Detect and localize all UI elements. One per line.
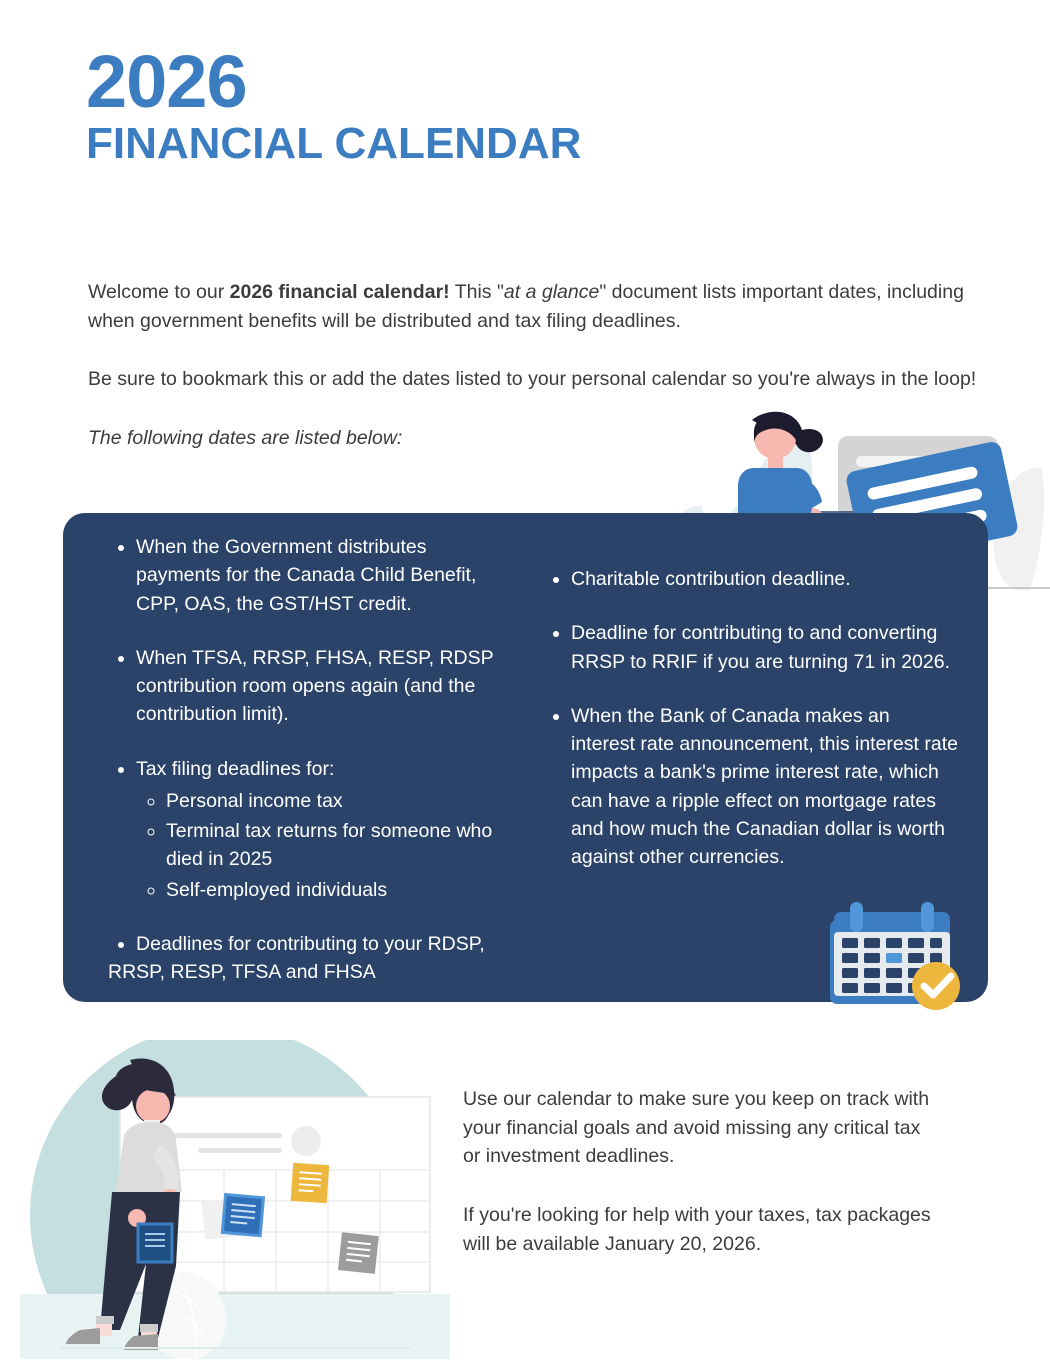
list-item: Deadline for contributing to and convert… bbox=[571, 619, 958, 676]
intro-paragraph-1: Welcome to our 2026 financial calendar! … bbox=[88, 278, 978, 335]
footer-paragraph-1: Use our calendar to make sure you keep o… bbox=[463, 1085, 933, 1171]
sticky-note-grey-3 bbox=[338, 1232, 379, 1274]
intro-p1-mid: This " bbox=[450, 281, 504, 303]
intro-p1-lead: Welcome to our bbox=[88, 281, 230, 303]
right-bullet-list: Charitable contribution deadline. Deadli… bbox=[543, 565, 958, 871]
list-item: Tax filing deadlines for: Personal incom… bbox=[136, 755, 513, 904]
list-item-label: Tax filing deadlines for: bbox=[136, 758, 334, 780]
left-sub-bullet-list: Personal income tax Terminal tax returns… bbox=[136, 787, 513, 904]
list-item-label: Deadlines for contributing to your RDSP,… bbox=[108, 930, 513, 987]
list-item: Personal income tax bbox=[166, 787, 513, 815]
title-year: 2026 bbox=[86, 48, 886, 116]
list-item: When the Bank of Canada makes an interes… bbox=[571, 702, 958, 872]
list-item: Self-employed individuals bbox=[166, 876, 513, 904]
page-title: 2026 FINANCIAL CALENDAR bbox=[86, 48, 886, 168]
list-item: When TFSA, RRSP, FHSA, RESP, RDSP contri… bbox=[136, 644, 513, 729]
sticky-note-yellow bbox=[291, 1163, 330, 1203]
footer-paragraph-2: If you're looking for help with your tax… bbox=[463, 1201, 933, 1258]
list-item: Deadlines for contributing to your RDSP,… bbox=[136, 930, 513, 987]
intro-p1-bold: 2026 financial calendar! bbox=[230, 281, 450, 303]
intro-p1-italic: at a glance bbox=[504, 281, 599, 303]
footer-text: Use our calendar to make sure you keep o… bbox=[463, 1085, 933, 1258]
list-item: When the Government distributes payments… bbox=[136, 533, 513, 618]
check-badge bbox=[912, 962, 960, 1010]
highlights-panel: When the Government distributes payments… bbox=[63, 513, 988, 1002]
title-heading: FINANCIAL CALENDAR bbox=[86, 120, 886, 168]
intro-paragraph-2: Be sure to bookmark this or add the date… bbox=[88, 365, 978, 394]
calendar-check-icon bbox=[820, 894, 970, 1014]
sticky-note-blue-1 bbox=[222, 1194, 263, 1235]
briefcase bbox=[138, 1224, 172, 1262]
woman-planning-board-illustration bbox=[20, 1040, 450, 1359]
panel-left-column: When the Government distributes payments… bbox=[63, 527, 523, 1002]
document-page: 2026 FINANCIAL CALENDAR Welcome to our 2… bbox=[0, 0, 1050, 1359]
list-item: Charitable contribution deadline. bbox=[571, 565, 958, 593]
list-item: Terminal tax returns for someone who die… bbox=[166, 817, 513, 874]
left-bullet-list: When the Government distributes payments… bbox=[108, 533, 513, 986]
